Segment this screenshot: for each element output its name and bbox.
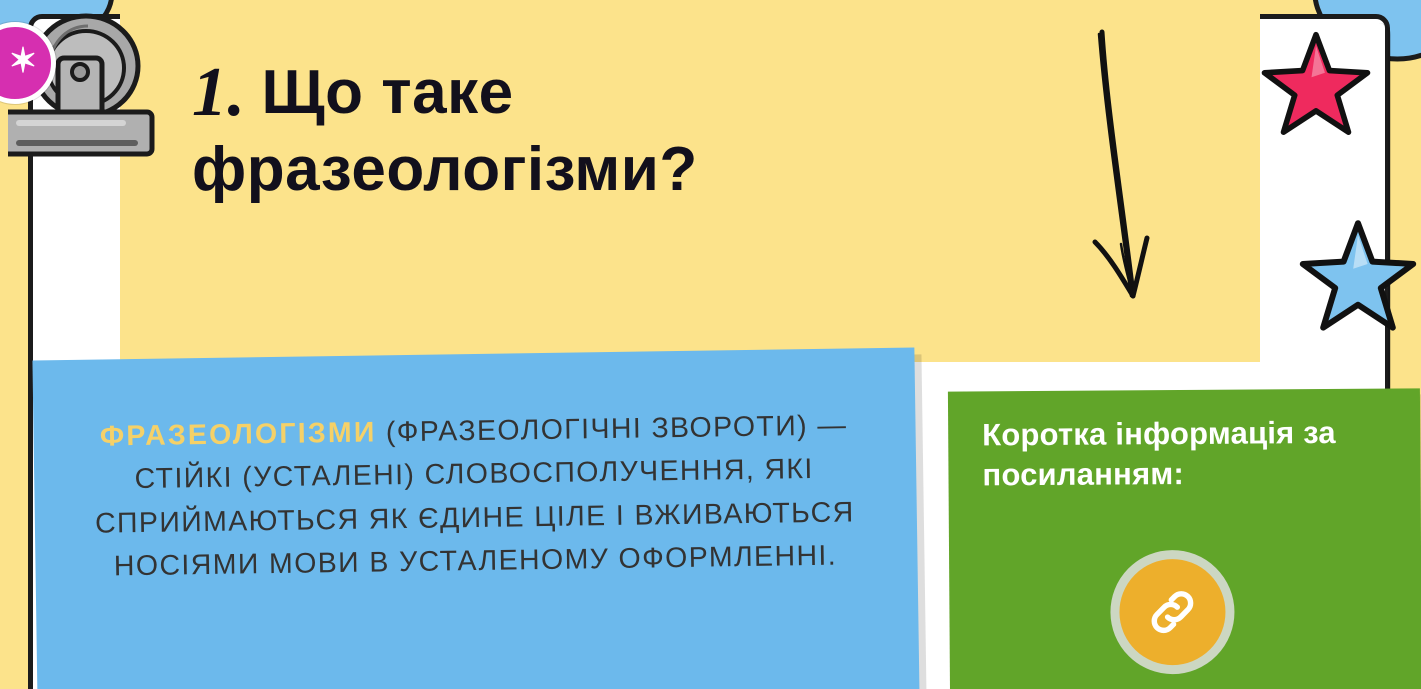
hand-drawn-down-arrow-icon bbox=[1055, 14, 1225, 334]
link-card-title: Коротка інформація за посиланням: bbox=[982, 412, 1403, 494]
definition-card: ФРАЗЕОЛОГІЗМИ (ФРАЗЕОЛОГІЧНІ ЗВОРОТИ) — … bbox=[32, 347, 919, 689]
star-blue-icon bbox=[1296, 216, 1420, 336]
link-button[interactable] bbox=[1110, 550, 1235, 675]
slide-canvas: 1.Що таке фразеологізми? ✶ ФРАЗЕ bbox=[0, 0, 1421, 689]
title-line-1: Що таке bbox=[262, 58, 514, 127]
definition-keyword: ФРАЗЕОЛОГІЗМИ bbox=[100, 416, 377, 452]
title-line-2: фразеологізми? bbox=[192, 135, 698, 204]
definition-text: ФРАЗЕОЛОГІЗМИ (ФРАЗЕОЛОГІЧНІ ЗВОРОТИ) — … bbox=[73, 404, 875, 589]
star-pink-icon bbox=[1258, 28, 1374, 140]
page-title: 1.Що таке фразеологізми? bbox=[192, 50, 1072, 206]
link-card: Коротка інформація за посиланням: bbox=[948, 388, 1421, 689]
sticker-glyph: ✶ bbox=[9, 44, 38, 78]
title-number: 1. bbox=[192, 52, 246, 135]
link-chain-icon bbox=[1141, 581, 1203, 643]
